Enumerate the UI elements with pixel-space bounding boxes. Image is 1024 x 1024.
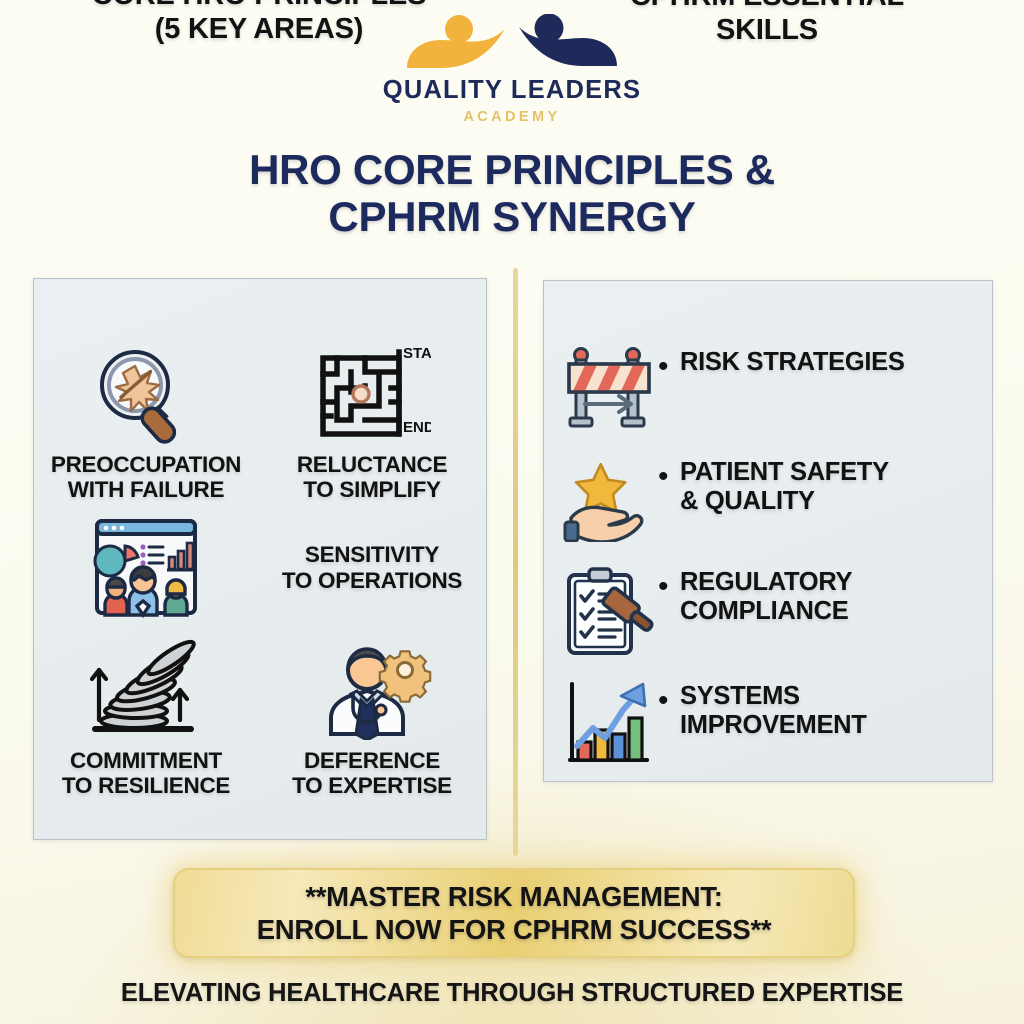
maze-end-label: END	[403, 419, 431, 436]
cphrm-skills-list: • RISK STRATEGIES • PATIENT SAFETY & QUA…	[560, 346, 990, 768]
page-title: HRO CORE PRINCIPLES & CPHRM SYNERGY	[0, 146, 1024, 240]
hro-item-preoccupation-with-failure[interactable]: PREOCCUPATION WITH FAILURE	[33, 340, 259, 505]
hro-label-line-2: TO RESILIENCE	[62, 773, 230, 798]
hro-label-line-1: DEFERENCE	[304, 748, 440, 773]
cta-banner[interactable]: **MASTER RISK MANAGEMENT: ENROLL NOW FOR…	[173, 868, 855, 958]
hro-item-sensitivity-icon-cell[interactable]	[33, 505, 259, 630]
hro-item-commitment-to-resilience[interactable]: COMMITMENT TO RESILIENCE	[33, 630, 259, 825]
skill-icon-slot	[560, 346, 658, 432]
skill-label-line-1: SYSTEMS	[680, 682, 800, 710]
vertical-divider	[513, 268, 518, 856]
hand-star-icon	[563, 456, 655, 542]
cta-line-1: **MASTER RISK MANAGEMENT:	[305, 881, 722, 912]
hro-label-line-1: COMMITMENT	[70, 748, 222, 773]
dashboard-team-icon	[81, 513, 211, 623]
spring-resilience-icon	[83, 634, 209, 740]
skill-label-line-1: PATIENT SAFETY	[680, 458, 889, 486]
hro-label-line-2: TO OPERATIONS	[282, 568, 462, 593]
growth-chart-arrow-icon	[563, 680, 655, 768]
skill-icon-slot	[560, 566, 658, 656]
skill-label-line-2: IMPROVEMENT	[680, 711, 867, 739]
page-title-line-2: CPHRM SYNERGY	[0, 193, 1024, 240]
skill-bullet: •	[658, 686, 680, 716]
footer-tagline: ELEVATING HEALTHCARE THROUGH STRUCTURED …	[0, 979, 1024, 1008]
skill-icon-slot	[560, 680, 658, 768]
hro-principles-grid: PREOCCUPATION WITH FAILURE START END REL…	[33, 340, 485, 840]
hro-item-deference-to-expertise[interactable]: DEFERENCE TO EXPERTISE	[259, 630, 485, 825]
hro-item-label: COMMITMENT TO RESILIENCE	[62, 748, 230, 798]
hro-label-line-1: PREOCCUPATION	[51, 452, 241, 477]
skill-label-line-1: REGULATORY	[680, 568, 852, 596]
skill-icon-slot	[560, 456, 658, 542]
left-panel-title: CORE HRO PRINCIPLES (5 KEY AREAS)	[33, 0, 485, 47]
hro-label-line-2: TO SIMPLIFY	[303, 477, 441, 502]
skill-item-risk-strategies[interactable]: • RISK STRATEGIES	[560, 346, 990, 432]
skill-label-line-2: & QUALITY	[680, 487, 815, 515]
skill-label-line-1: RISK STRATEGIES	[680, 348, 905, 376]
hro-item-label: SENSITIVITY TO OPERATIONS	[282, 542, 462, 592]
right-panel-title-line-2: SKILLS	[716, 14, 818, 46]
skill-bullet: •	[658, 572, 680, 602]
hro-item-label: DEFERENCE TO EXPERTISE	[292, 748, 452, 798]
hro-item-reluctance-to-simplify[interactable]: START END RELUCTANCE TO SIMPLIFY	[259, 340, 485, 505]
road-barrier-arrow-icon	[563, 346, 655, 432]
right-panel-title-line-1: CPHRM ESSENTIAL	[630, 0, 904, 12]
brand-subtitle: ACADEMY	[0, 110, 1024, 125]
hro-label-line-1: RELUCTANCE	[297, 452, 447, 477]
maze-icon: START END	[313, 344, 431, 444]
hro-label-line-2: WITH FAILURE	[68, 477, 224, 502]
hro-label-line-1: SENSITIVITY	[305, 542, 439, 567]
infographic-canvas: QUALITY LEADERS ACADEMY HRO CORE PRINCIP…	[0, 0, 1024, 1024]
skill-label: SYSTEMS IMPROVEMENT	[680, 680, 867, 740]
clipboard-gavel-icon	[563, 566, 655, 656]
hro-label-line-2: TO EXPERTISE	[292, 773, 452, 798]
hro-item-label: PREOCCUPATION WITH FAILURE	[51, 452, 241, 502]
page-title-line-1: HRO CORE PRINCIPLES &	[249, 146, 775, 193]
left-panel-title-line-2: (5 KEY AREAS)	[155, 13, 364, 45]
hro-item-sensitivity-to-operations[interactable]: SENSITIVITY TO OPERATIONS	[259, 505, 485, 630]
skill-label: PATIENT SAFETY & QUALITY	[680, 456, 889, 516]
doctor-gear-icon	[309, 634, 435, 740]
skill-label: REGULATORY COMPLIANCE	[680, 566, 852, 626]
brand-name: QUALITY LEADERS	[0, 78, 1024, 104]
hro-item-label: RELUCTANCE TO SIMPLIFY	[297, 452, 447, 502]
maze-start-label: START	[403, 345, 431, 362]
skill-label-line-2: COMPLIANCE	[680, 597, 848, 625]
skill-bullet: •	[658, 462, 680, 492]
cta-line-2: ENROLL NOW FOR CPHRM SUCCESS**	[257, 914, 772, 945]
skill-item-patient-safety-quality[interactable]: • PATIENT SAFETY & QUALITY	[560, 456, 990, 542]
skill-label: RISK STRATEGIES	[680, 346, 905, 377]
skill-item-regulatory-compliance[interactable]: • REGULATORY COMPLIANCE	[560, 566, 990, 656]
skill-item-systems-improvement[interactable]: • SYSTEMS IMPROVEMENT	[560, 680, 990, 768]
right-panel-title: CPHRM ESSENTIAL SKILLS	[543, 0, 991, 48]
left-panel-title-line-1: CORE HRO PRINCIPLES	[92, 0, 427, 11]
cta-text: **MASTER RISK MANAGEMENT: ENROLL NOW FOR…	[257, 880, 772, 946]
skill-bullet: •	[658, 352, 680, 382]
magnifying-glass-failure-icon	[90, 344, 202, 444]
